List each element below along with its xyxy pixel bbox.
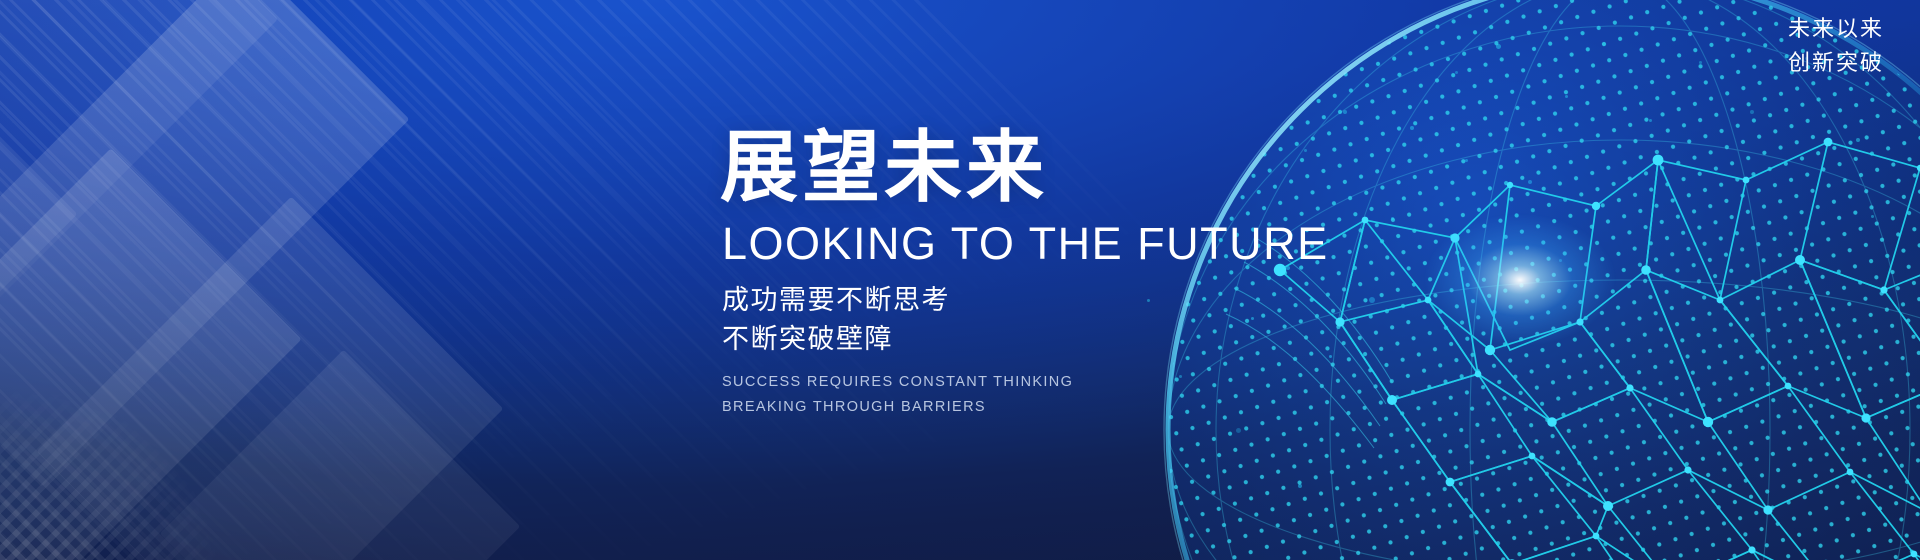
tagline-english-line-2: BREAKING THROUGH BARRIERS <box>722 395 1620 420</box>
decor-rectangle <box>160 350 521 560</box>
subtitle-chinese-line-2: 不断突破壁障 <box>722 320 1620 358</box>
subtitle-english: LOOKING TO THE FUTURE <box>722 220 1620 268</box>
decor-rectangle <box>37 197 504 560</box>
decor-rectangle <box>0 148 302 560</box>
corner-slogan-line-2: 创新突破 <box>1788 46 1884 80</box>
tagline-english-line-1: SUCCESS REQUIRES CONSTANT THINKING <box>722 370 1620 395</box>
halftone-dot-grid <box>0 320 290 560</box>
subtitle-chinese: 成功需要不断思考 不断突破壁障 <box>722 281 1620 358</box>
subtitle-chinese-line-1: 成功需要不断思考 <box>722 281 1620 319</box>
headline: 展望未来 <box>720 128 1620 208</box>
decor-rectangle <box>0 0 409 487</box>
tagline-english: SUCCESS REQUIRES CONSTANT THINKING BREAK… <box>722 370 1620 420</box>
corner-slogan: 未来以来 创新突破 <box>1788 12 1884 80</box>
corner-slogan-line-1: 未来以来 <box>1788 12 1884 46</box>
decor-rectangle <box>0 0 278 323</box>
copy-block: 展望未来 LOOKING TO THE FUTURE 成功需要不断思考 不断突破… <box>720 128 1620 420</box>
decor-rectangle <box>0 73 77 448</box>
promo-banner: 展望未来 LOOKING TO THE FUTURE 成功需要不断思考 不断突破… <box>0 0 1920 560</box>
